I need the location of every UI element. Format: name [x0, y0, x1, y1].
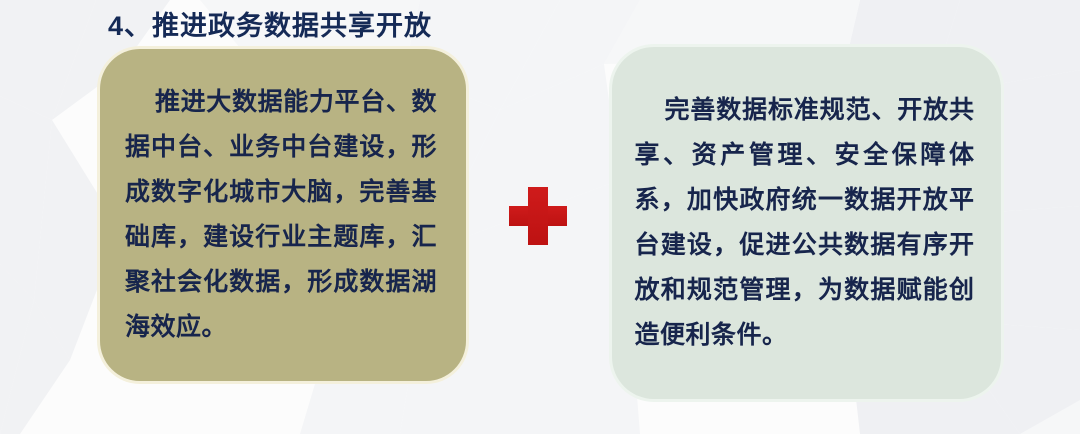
page-title: 4、推进政务数据共享开放	[108, 9, 432, 43]
data-standards-panel: 完善数据标准规范、开放共享、资产管理、安全保障体系，加快政府统一数据开放平台建设…	[612, 47, 1001, 399]
plus-icon	[509, 187, 567, 245]
plus-icon-vertical-bar	[528, 187, 548, 245]
slide-canvas: 4、推进政务数据共享开放 推进大数据能力平台、数据中台、业务中台建设，形成数字化…	[0, 0, 1080, 434]
data-standards-panel-text: 完善数据标准规范、开放共享、资产管理、安全保障体系，加快政府统一数据开放平台建设…	[635, 88, 975, 358]
data-capability-panel: 推进大数据能力平台、数据中台、业务中台建设，形成数字化城市大脑，完善基础库，建设…	[100, 49, 466, 381]
data-capability-panel-text: 推进大数据能力平台、数据中台、业务中台建设，形成数字化城市大脑，完善基础库，建设…	[125, 80, 437, 350]
